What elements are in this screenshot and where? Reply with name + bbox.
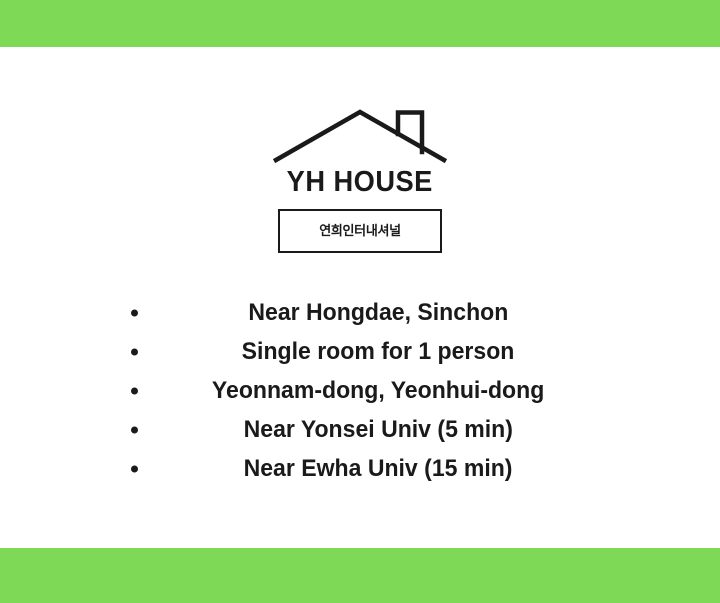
list-item: Yeonnam-dong, Yeonhui-dong (0, 371, 720, 410)
list-item: Single room for 1 person (0, 332, 720, 371)
bullet-dot-icon (131, 348, 138, 355)
list-item: Near Ewha Univ (15 min) (0, 449, 720, 488)
feature-list: Near Hongdae, Sinchon Single room for 1 … (0, 293, 720, 488)
bullet-dot-icon (131, 387, 138, 394)
house-roof-icon (270, 104, 450, 164)
feature-text: Near Yonsei Univ (5 min) (243, 418, 512, 442)
bullet-dot-icon (131, 309, 138, 316)
feature-text: Yeonnam-dong, Yeonhui-dong (212, 379, 544, 403)
poster-content: YH HOUSE 연희인터내셔널 Near Hongdae, Sinchon S… (0, 47, 720, 548)
brand-name: YH HOUSE (287, 168, 433, 197)
brand-subtitle-box: 연희인터내셔널 (278, 209, 442, 253)
bullet-dot-icon (131, 426, 138, 433)
bullet-dot-icon (131, 465, 138, 472)
feature-text: Near Hongdae, Sinchon (248, 301, 508, 325)
logo-block: YH HOUSE 연희인터내셔널 (270, 104, 450, 253)
top-green-band (0, 0, 720, 47)
list-item: Near Yonsei Univ (5 min) (0, 410, 720, 449)
feature-text: Single room for 1 person (242, 340, 515, 364)
list-item: Near Hongdae, Sinchon (0, 293, 720, 332)
brand-subtitle-text: 연희인터내셔널 (319, 225, 401, 238)
poster-card: YH HOUSE 연희인터내셔널 Near Hongdae, Sinchon S… (0, 0, 720, 603)
feature-text: Near Ewha Univ (15 min) (244, 457, 513, 481)
bottom-green-band (0, 548, 720, 603)
